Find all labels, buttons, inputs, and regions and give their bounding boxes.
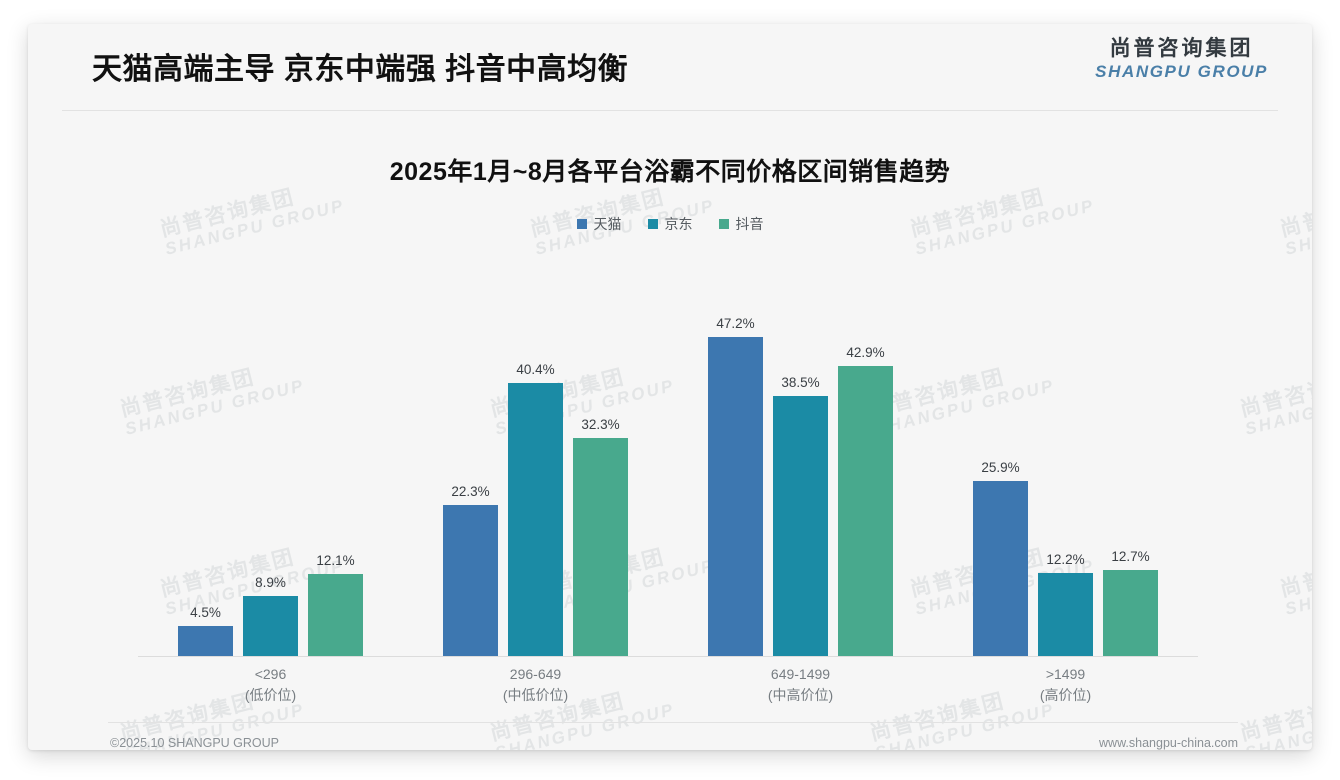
bar-rect[interactable] — [243, 596, 298, 656]
footer-website[interactable]: www.shangpu-china.com — [1099, 736, 1238, 750]
x-axis-tick-label: 649-1499(中高价位) — [668, 664, 933, 706]
x-axis-line — [138, 656, 1198, 657]
bar-group: 22.3%40.4%32.3% — [443, 256, 628, 656]
chart-plot-area: 4.5%8.9%12.1%22.3%40.4%32.3%47.2%38.5%42… — [138, 256, 1198, 656]
bar-value-label: 25.9% — [981, 460, 1019, 475]
brand-logo-cn: 尚普咨询集团 — [1095, 38, 1268, 59]
watermark-tile: 尚普咨询集团SHANGPU GROUP — [1238, 679, 1312, 750]
legend-swatch-icon — [719, 219, 729, 229]
slide-header: 天猫高端主导 京东中端强 抖音中高均衡 尚普咨询集团 SHANGPU GROUP — [28, 24, 1312, 110]
x-tick-range: 296-649 — [403, 664, 668, 685]
legend-label: 抖音 — [736, 214, 764, 234]
x-axis-labels: <296(低价位)296-649(中低价位)649-1499(中高价位)>149… — [138, 664, 1198, 714]
bar-rect[interactable] — [838, 366, 893, 656]
bar-item[interactable]: 12.1% — [308, 256, 363, 656]
watermark-en: SHANGPU GROUP — [1243, 701, 1312, 750]
bar-value-label: 32.3% — [581, 417, 619, 432]
bar-group: 4.5%8.9%12.1% — [178, 256, 363, 656]
legend-swatch-icon — [648, 219, 658, 229]
bar-value-label: 22.3% — [451, 484, 489, 499]
bar-rect[interactable] — [508, 383, 563, 656]
legend-swatch-icon — [577, 219, 587, 229]
x-tick-range: <296 — [138, 664, 403, 685]
brand-logo-en: SHANGPU GROUP — [1095, 63, 1268, 80]
bar-value-label: 40.4% — [516, 362, 554, 377]
bar-item[interactable]: 25.9% — [973, 256, 1028, 656]
x-tick-sublabel: (高价位) — [933, 685, 1198, 706]
x-tick-sublabel: (低价位) — [138, 685, 403, 706]
brand-logo: 尚普咨询集团 SHANGPU GROUP — [1095, 38, 1268, 80]
bar-rect[interactable] — [443, 505, 498, 656]
bar-item[interactable]: 12.2% — [1038, 256, 1093, 656]
x-tick-range: >1499 — [933, 664, 1198, 685]
bar-group: 47.2%38.5%42.9% — [708, 256, 893, 656]
x-tick-range: 649-1499 — [668, 664, 933, 685]
page-title: 天猫高端主导 京东中端强 抖音中高均衡 — [92, 44, 628, 88]
bar-rect[interactable] — [1038, 573, 1093, 656]
bar-rect[interactable] — [308, 574, 363, 656]
bar-item[interactable]: 38.5% — [773, 256, 828, 656]
watermark-cn: 尚普咨询集团 — [1278, 535, 1312, 601]
slide-card: 尚普咨询集团SHANGPU GROUP尚普咨询集团SHANGPU GROUP尚普… — [28, 24, 1312, 750]
bar-group: 25.9%12.2%12.7% — [973, 256, 1158, 656]
watermark-en: SHANGPU GROUP — [1243, 377, 1312, 439]
bar-value-label: 42.9% — [846, 345, 884, 360]
bar-value-label: 12.2% — [1046, 552, 1084, 567]
bar-rect[interactable] — [573, 438, 628, 656]
bar-item[interactable]: 22.3% — [443, 256, 498, 656]
legend-label: 京东 — [665, 214, 693, 234]
x-axis-tick-label: <296(低价位) — [138, 664, 403, 706]
watermark-en: SHANGPU GROUP — [1283, 557, 1312, 619]
chart-title: 2025年1月~8月各平台浴霸不同价格区间销售趋势 — [28, 152, 1312, 188]
footer-copyright: ©2025.10 SHANGPU GROUP — [110, 736, 279, 750]
bar-rect[interactable] — [708, 337, 763, 656]
footer-divider — [108, 722, 1238, 723]
legend-item-京东[interactable]: 京东 — [648, 214, 693, 234]
x-tick-sublabel: (中低价位) — [403, 685, 668, 706]
bar-value-label: 12.7% — [1111, 549, 1149, 564]
bar-rect[interactable] — [1103, 570, 1158, 656]
bar-item[interactable]: 40.4% — [508, 256, 563, 656]
bar-value-label: 38.5% — [781, 375, 819, 390]
x-tick-sublabel: (中高价位) — [668, 685, 933, 706]
x-axis-tick-label: >1499(高价位) — [933, 664, 1198, 706]
bar-rect[interactable] — [178, 626, 233, 656]
bar-item[interactable]: 4.5% — [178, 256, 233, 656]
bar-item[interactable]: 32.3% — [573, 256, 628, 656]
bar-value-label: 8.9% — [255, 575, 286, 590]
x-axis-tick-label: 296-649(中低价位) — [403, 664, 668, 706]
legend-item-天猫[interactable]: 天猫 — [577, 214, 622, 234]
watermark-tile: 尚普咨询集团SHANGPU GROUP — [1278, 535, 1312, 618]
bar-rect[interactable] — [973, 481, 1028, 656]
bar-value-label: 12.1% — [316, 553, 354, 568]
bar-value-label: 4.5% — [190, 605, 221, 620]
chart-legend: 天猫京东抖音 — [28, 214, 1312, 234]
legend-label: 天猫 — [594, 214, 622, 234]
bar-item[interactable]: 42.9% — [838, 256, 893, 656]
watermark-cn: 尚普咨询集团 — [1238, 355, 1312, 421]
bar-rect[interactable] — [773, 396, 828, 656]
bar-item[interactable]: 47.2% — [708, 256, 763, 656]
watermark-cn: 尚普咨询集团 — [1238, 679, 1312, 745]
bar-item[interactable]: 8.9% — [243, 256, 298, 656]
header-divider — [62, 110, 1278, 111]
watermark-tile: 尚普咨询集团SHANGPU GROUP — [1238, 355, 1312, 438]
bar-value-label: 47.2% — [716, 316, 754, 331]
bar-item[interactable]: 12.7% — [1103, 256, 1158, 656]
legend-item-抖音[interactable]: 抖音 — [719, 214, 764, 234]
